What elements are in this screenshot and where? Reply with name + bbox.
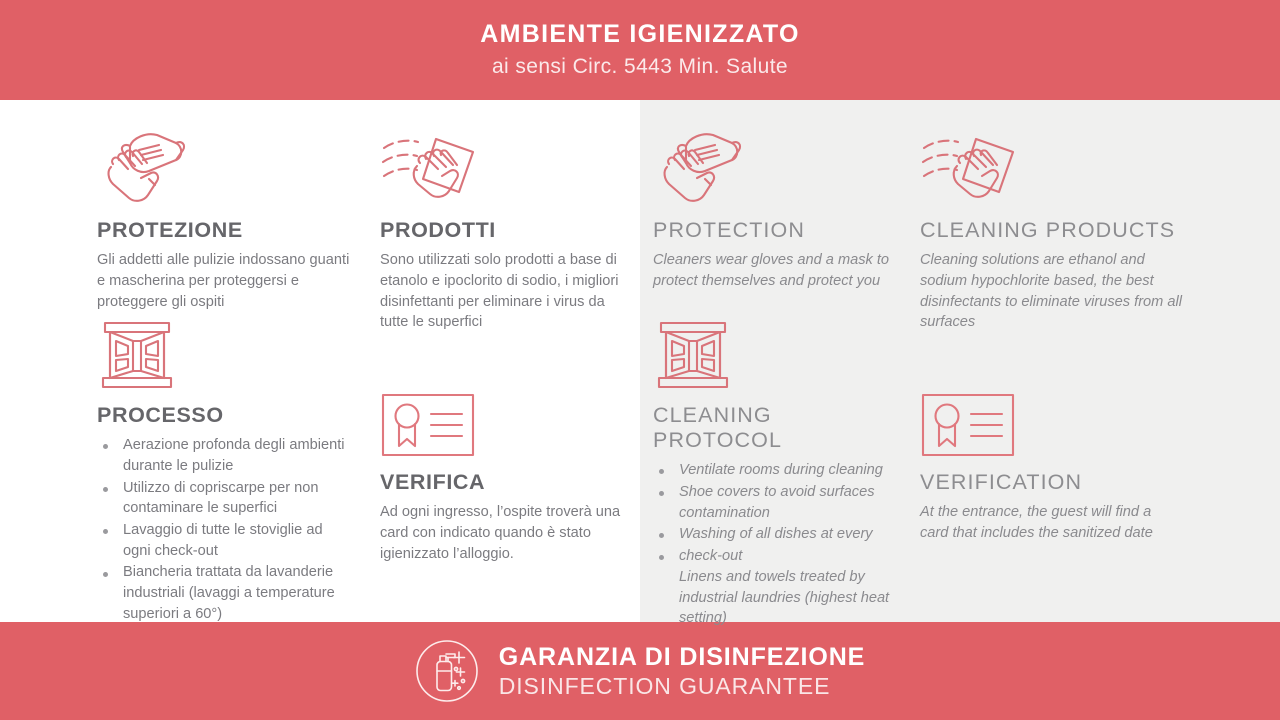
english-panel: PROTECTION Cleaners wear gloves and a ma… [640,100,1280,622]
spray-bottle-sparkle-icon [415,639,479,703]
footer-title-english: DISINFECTION GUARANTEE [499,673,866,699]
list-item-text: Utilizzo di copriscarpe per non contamin… [123,480,318,517]
section-processo: PROCESSO Aerazione profonda degli ambien… [97,311,349,626]
poster-body: PROTEZIONE Gli addetti alle pulizie indo… [0,100,1280,622]
open-window-icon [97,311,349,391]
poster-footer: GARANZIA DI DISINFEZIONE DISINFECTION GU… [0,622,1280,720]
list-item: check-outLinens and towels treated by in… [653,546,891,629]
list-item-text: check-out [679,548,742,564]
section-title: PRODOTTI [380,218,630,243]
list-item: Washing of all dishes at every [653,524,891,545]
certificate-card-icon [920,378,1182,458]
header-subtitle: ai sensi Circ. 5443 Min. Salute [492,55,788,79]
list-item: Lavaggio di tutte le stoviglie ad ogni c… [97,520,349,561]
list-item-continuation: Linens and towels treated by industrial … [679,567,891,629]
section-title: CLEANING PRODUCTS [920,218,1182,243]
list-item: Ventilate rooms during cleaning [653,460,891,481]
list-item-text: Biancheria trattata da lavanderie indust… [123,564,335,621]
header-title: AMBIENTE IGIENIZZATO [480,21,800,49]
list-item-text: Shoe covers to avoid surfaces contaminat… [679,484,875,521]
list-item-text: Ventilate rooms during cleaning [679,462,883,478]
section-title: VERIFICA [380,470,630,495]
list-item: Shoe covers to avoid surfaces contaminat… [653,482,891,523]
open-window-icon [653,311,891,391]
list-item-text: Aerazione profonda degli ambienti durant… [123,437,345,474]
section-prodotti: PRODOTTI Sono utilizzati solo prodotti a… [380,126,630,333]
section-verification: VERIFICATION At the entrance, the guest … [920,378,1182,544]
certificate-card-icon [380,378,630,458]
hand-wiping-cloth-icon [380,126,630,206]
section-title: VERIFICATION [920,470,1182,495]
section-title: PROTEZIONE [97,218,352,243]
sanitized-environment-poster: AMBIENTE IGIENIZZATO ai sensi Circ. 5443… [0,0,1280,720]
section-cleaning-protocol: CLEANING PROTOCOL Ventilate rooms during… [653,311,891,630]
bullet-dot [103,529,108,534]
section-body: Sono utilizzati solo prodotti a base di … [380,250,630,333]
poster-header: AMBIENTE IGIENIZZATO ai sensi Circ. 5443… [0,0,1280,100]
section-body: Cleaners wear gloves and a mask to prote… [653,250,893,291]
section-body: Cleaning solutions are ethanol and sodiu… [920,250,1182,333]
hand-wiping-cloth-icon [920,126,1182,206]
protocol-bullet-list: Ventilate rooms during cleaning Shoe cov… [653,460,891,629]
bullet-dot [659,533,664,538]
italian-panel: PROTEZIONE Gli addetti alle pulizie indo… [0,100,640,622]
bullet-dot [103,444,108,449]
footer-title-italian: GARANZIA DI DISINFEZIONE [499,643,866,671]
section-body: Ad ogni ingresso, l’ospite troverà una c… [380,502,630,564]
section-protezione: PROTEZIONE Gli addetti alle pulizie indo… [97,126,352,312]
section-cleaning-products: CLEANING PRODUCTS Cleaning solutions are… [920,126,1182,333]
section-body: At the entrance, the guest will find a c… [920,502,1182,543]
section-body: Gli addetti alle pulizie indossano guant… [97,250,352,312]
gloves-mask-icon [653,126,893,206]
list-item: Aerazione profonda degli ambienti durant… [97,435,349,476]
section-title: PROTECTION [653,218,893,243]
section-verifica: VERIFICA Ad ogni ingresso, l’ospite trov… [380,378,630,564]
bullet-dot [659,555,664,560]
gloves-mask-icon [97,126,352,206]
bullet-dot [659,491,664,496]
section-protection: PROTECTION Cleaners wear gloves and a ma… [653,126,893,292]
process-bullet-list: Aerazione profonda degli ambienti durant… [97,435,349,624]
bullet-dot [659,469,664,474]
list-item-text: Washing of all dishes at every [679,526,873,542]
list-item: Utilizzo di copriscarpe per non contamin… [97,478,349,519]
list-item: Biancheria trattata da lavanderie indust… [97,562,349,624]
list-item-text: Lavaggio di tutte le stoviglie ad ogni c… [123,522,323,559]
bullet-dot [103,487,108,492]
bullet-dot [103,572,108,577]
footer-text-block: GARANZIA DI DISINFEZIONE DISINFECTION GU… [499,643,866,699]
section-title: PROCESSO [97,403,349,428]
section-title: CLEANING PROTOCOL [653,403,891,453]
